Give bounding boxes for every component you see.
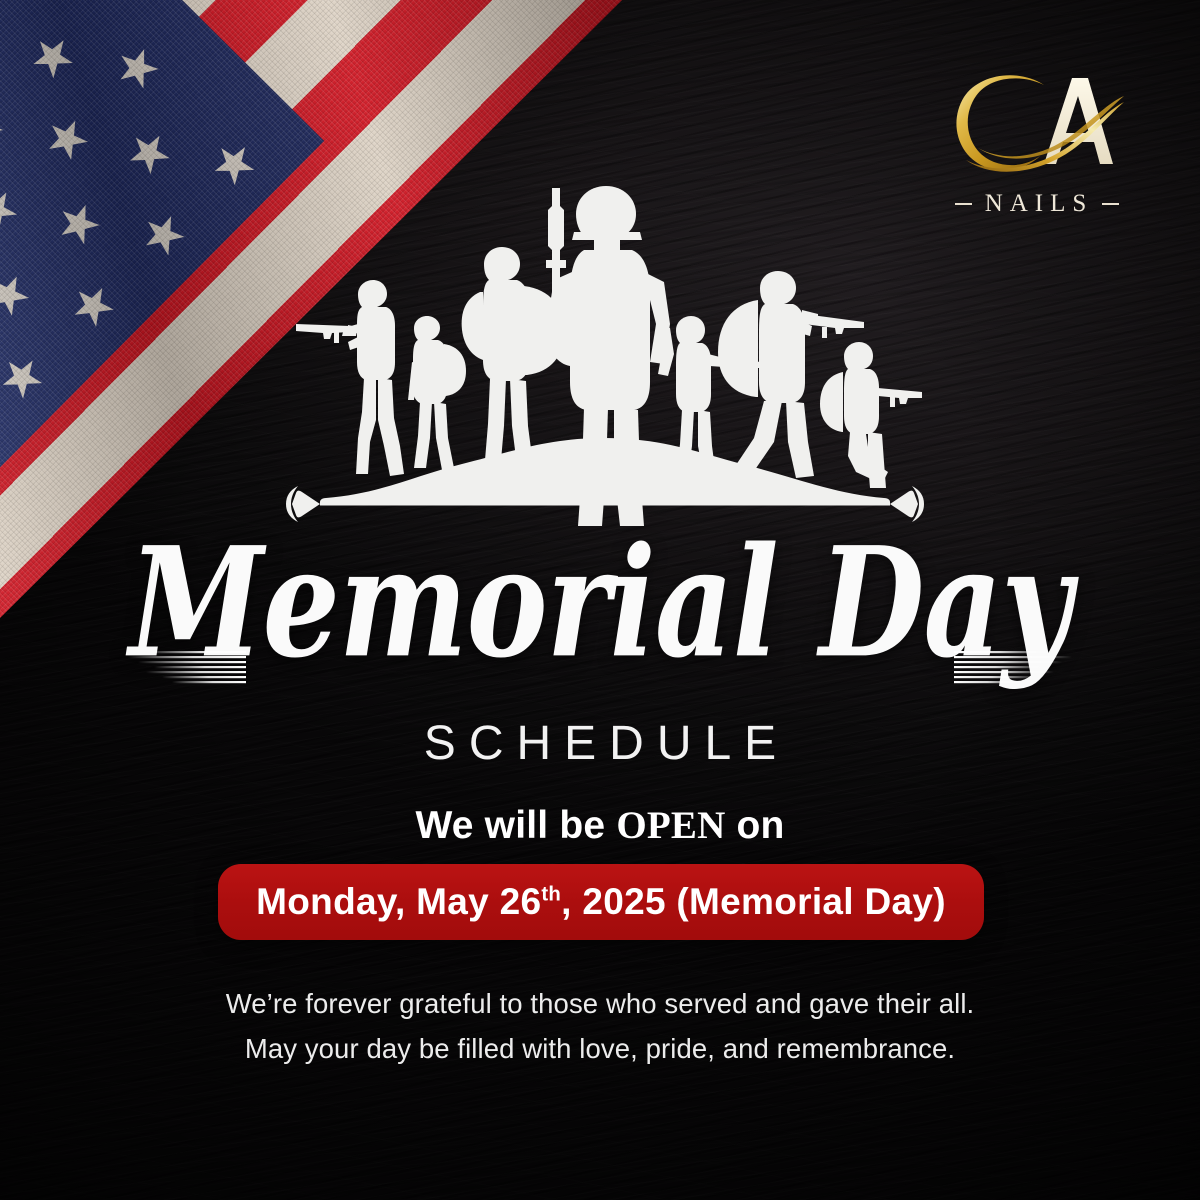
banner-day: Monday, May 26 xyxy=(256,881,541,922)
banner-rest: , 2025 (Memorial Day) xyxy=(561,881,946,922)
logo-dash-right xyxy=(1102,203,1119,205)
open-announcement-line: We will be OPEN on xyxy=(0,803,1200,848)
ca-monogram-icon xyxy=(948,72,1126,184)
logo-dash-left xyxy=(955,203,972,205)
banner-ordinal: th xyxy=(541,884,561,906)
open-prefix: We will be xyxy=(415,804,616,847)
open-keyword: OPEN xyxy=(616,804,725,847)
date-banner[interactable]: Monday, May 26th, 2025 (Memorial Day) xyxy=(218,864,984,940)
open-suffix: on xyxy=(725,804,784,847)
message-line-1: We’re forever grateful to those who serv… xyxy=(0,982,1200,1027)
page-subtitle: SCHEDULE xyxy=(0,716,1200,771)
message-block: We’re forever grateful to those who serv… xyxy=(0,982,1200,1071)
script-title-row: Memorial Day xyxy=(0,520,1200,680)
logo-wordmark: NAILS xyxy=(942,190,1132,218)
flourish-left-icon xyxy=(128,648,246,686)
message-line-2: May your day be filled with love, pride,… xyxy=(0,1027,1200,1072)
soldiers-silhouette xyxy=(284,176,924,526)
title-block: Memorial Day xyxy=(0,520,1200,771)
memorial-day-poster: NAILS xyxy=(0,0,1200,1200)
soldiers-on-hill-icon xyxy=(284,176,924,526)
flourish-right-icon xyxy=(954,648,1072,686)
brand-logo: NAILS xyxy=(942,72,1132,218)
date-banner-text: Monday, May 26th, 2025 (Memorial Day) xyxy=(256,881,946,923)
logo-word-text: NAILS xyxy=(981,190,1094,218)
